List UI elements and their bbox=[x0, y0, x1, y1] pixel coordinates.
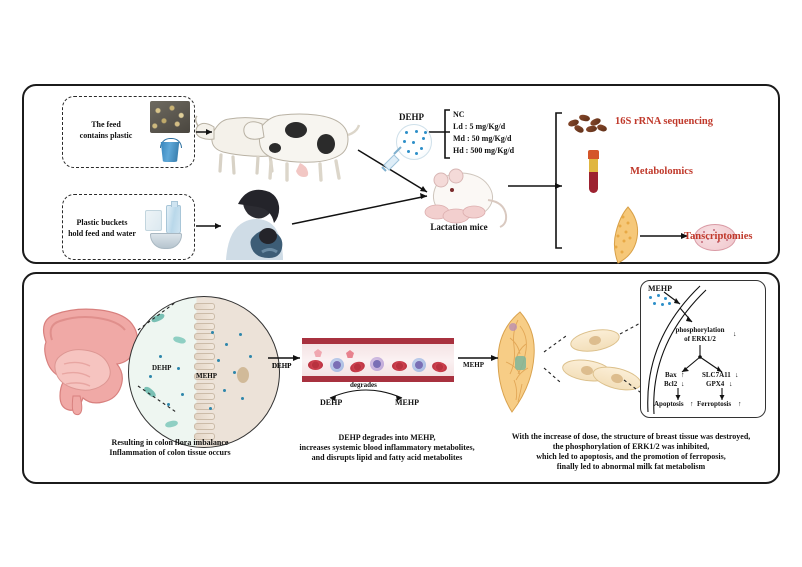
caption-blood-line1: DEHP degrades into MEHP, bbox=[272, 433, 502, 442]
caption-blood-line2: increases systemic blood inflammatory me… bbox=[272, 443, 502, 452]
caption-colon-line2: Inflammation of colon tissue occurs bbox=[55, 448, 285, 457]
pathway-outcome-ferroptosis-arrow: ↑ bbox=[738, 400, 742, 408]
caption-breast-line2: the phosphorylation of ERK1/2 was inhibi… bbox=[486, 442, 776, 451]
pathway-node-bcl2-arrow: ↓ bbox=[681, 380, 685, 388]
pathway-outcome-apoptosis-arrow: ↑ bbox=[690, 400, 694, 408]
pathway-node-gpx4: GPX4 bbox=[706, 380, 724, 388]
pathway-node-erk-arrow: ↓ bbox=[733, 330, 737, 338]
caption-breast-line1: With the increase of dose, the structure… bbox=[486, 432, 776, 441]
caption-breast-line3: which led to apoptosis, and the promotio… bbox=[486, 452, 776, 461]
pathway-node-erk-line2: of ERK1/2 bbox=[668, 335, 732, 343]
caption-blood-line3: and disrupts lipid and fatty acid metabo… bbox=[272, 453, 502, 462]
pathway-graphics bbox=[0, 0, 802, 567]
pathway-node-slc7a11-arrow: ↓ bbox=[735, 371, 739, 379]
pathway-node-bcl2: Bcl2 bbox=[664, 380, 677, 388]
caption-colon-line1: Resulting in colon flora imbalance bbox=[55, 438, 285, 447]
pathway-node-bax: Bax bbox=[665, 371, 677, 379]
pathway-node-slc7a11: SLC7A11 bbox=[702, 371, 731, 379]
pathway-node-gpx4-arrow: ↓ bbox=[729, 380, 733, 388]
figure-canvas: The feed contains plastic Plastic bucket… bbox=[0, 0, 802, 567]
caption-breast-line4: finally led to abnormal milk fat metabol… bbox=[486, 462, 776, 471]
pathway-outcome-apoptosis: Apoptosis bbox=[654, 400, 684, 408]
pathway-outcome-ferroptosis: Ferroptosis bbox=[697, 400, 731, 408]
pathway-entry-label: MEHP bbox=[648, 284, 672, 293]
pathway-node-bax-arrow: ↑ bbox=[681, 371, 685, 379]
pathway-node-erk-line1: phosphorylation bbox=[668, 326, 732, 334]
pathway-mehp-particles bbox=[648, 294, 674, 310]
